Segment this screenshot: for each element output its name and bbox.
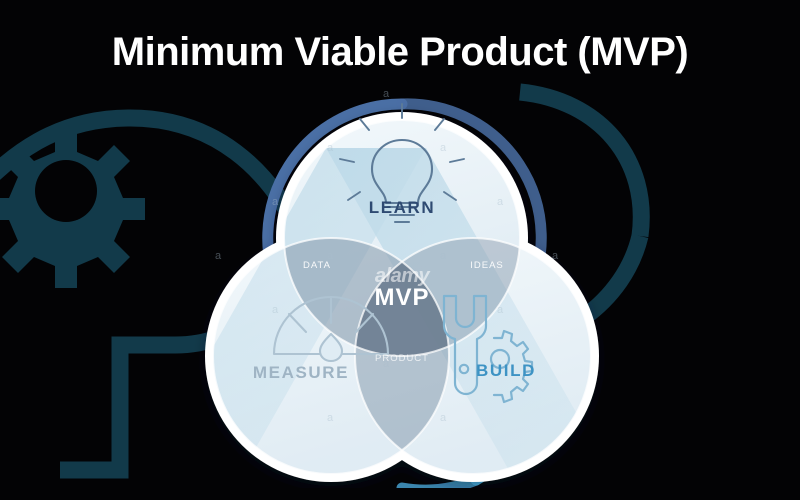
venn-svg xyxy=(176,88,628,488)
poster-canvas: Minimum Viable Product (MVP) xyxy=(0,0,800,500)
page-title: Minimum Viable Product (MVP) xyxy=(0,30,800,75)
mvp-venn-diagram: LEARN MEASURE BUILD DATA IDEAS PRODUCT a… xyxy=(176,88,628,488)
